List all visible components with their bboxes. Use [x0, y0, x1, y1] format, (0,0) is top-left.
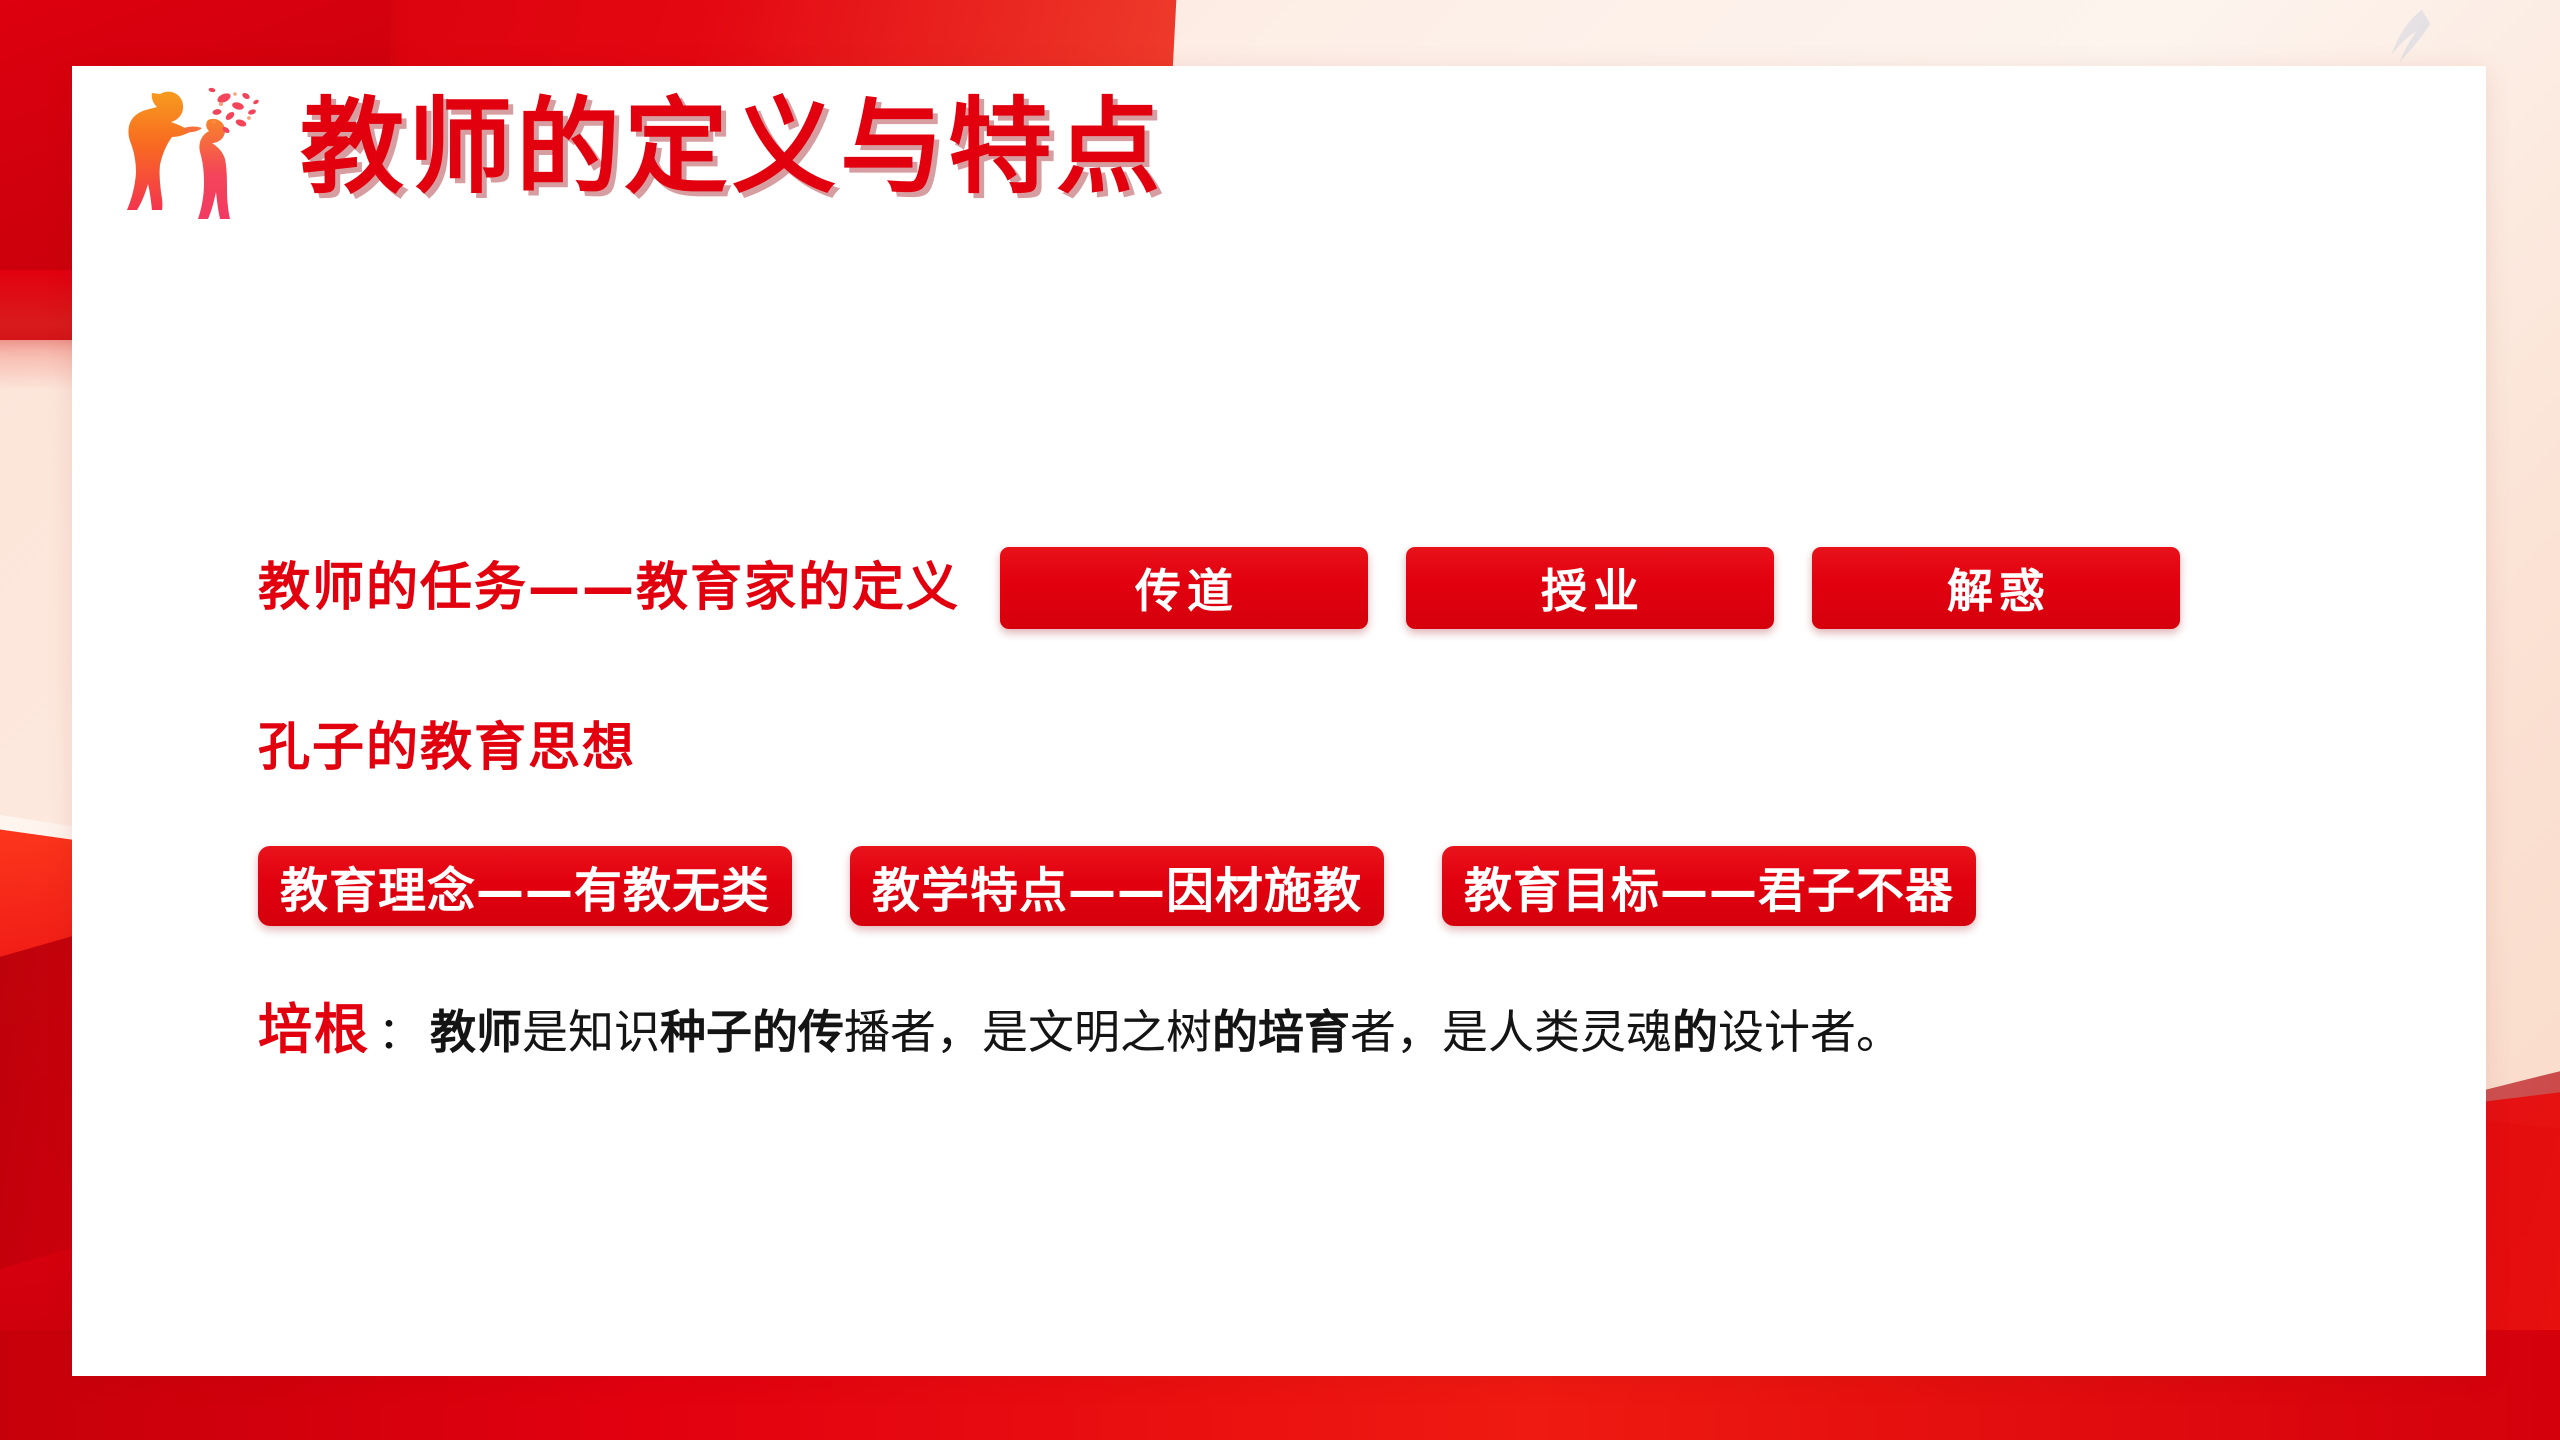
quote-row: 培根 ： 教师是知识种子的传播者，是文明之树的培育者，是人类灵魂的设计者。 — [258, 1002, 2378, 1056]
chip-education-goal[interactable]: 教育目标——君子不器 — [1442, 846, 1976, 926]
task-pill-chuandao[interactable]: 传道 — [1000, 547, 1368, 629]
teacher-and-child-icon — [104, 68, 264, 228]
task-pill-group: 传道 授业 解惑 — [1000, 547, 2180, 629]
task-row: 教师的任务——教育家的定义 传道 授业 解惑 — [258, 540, 2378, 636]
slide-root: 教师的定义与特点 教师的任务——教育家的定义 传道 授业 解惑 孔子的教育思想 … — [0, 0, 2560, 1440]
slide-body: 教师的任务——教育家的定义 传道 授业 解惑 孔子的教育思想 教育理念——有教无… — [258, 540, 2378, 1056]
slide-header: 教师的定义与特点 — [104, 68, 1164, 228]
confucius-row: 孔子的教育思想 — [258, 710, 2378, 786]
page-title: 教师的定义与特点 — [300, 93, 1164, 202]
task-pill-shouye[interactable]: 授业 — [1406, 547, 1774, 629]
feather-watermark-icon — [2378, 6, 2438, 70]
task-pill-jiehuo[interactable]: 解惑 — [1812, 547, 2180, 629]
task-heading: 教师的任务——教育家的定义 — [258, 562, 960, 614]
confucius-heading: 孔子的教育思想 — [258, 722, 636, 774]
confucius-chip-group: 教育理念——有教无类 教学特点——因材施教 教育目标——君子不器 — [258, 846, 2378, 926]
quote-colon: ： — [370, 1012, 430, 1056]
quote-author: 培根 — [258, 1002, 370, 1056]
quote-text: 教师是知识种子的传播者，是文明之树的培育者，是人类灵魂的设计者。 — [430, 1009, 1902, 1055]
chip-teaching-feature[interactable]: 教学特点——因材施教 — [850, 846, 1384, 926]
chip-education-philosophy[interactable]: 教育理念——有教无类 — [258, 846, 792, 926]
